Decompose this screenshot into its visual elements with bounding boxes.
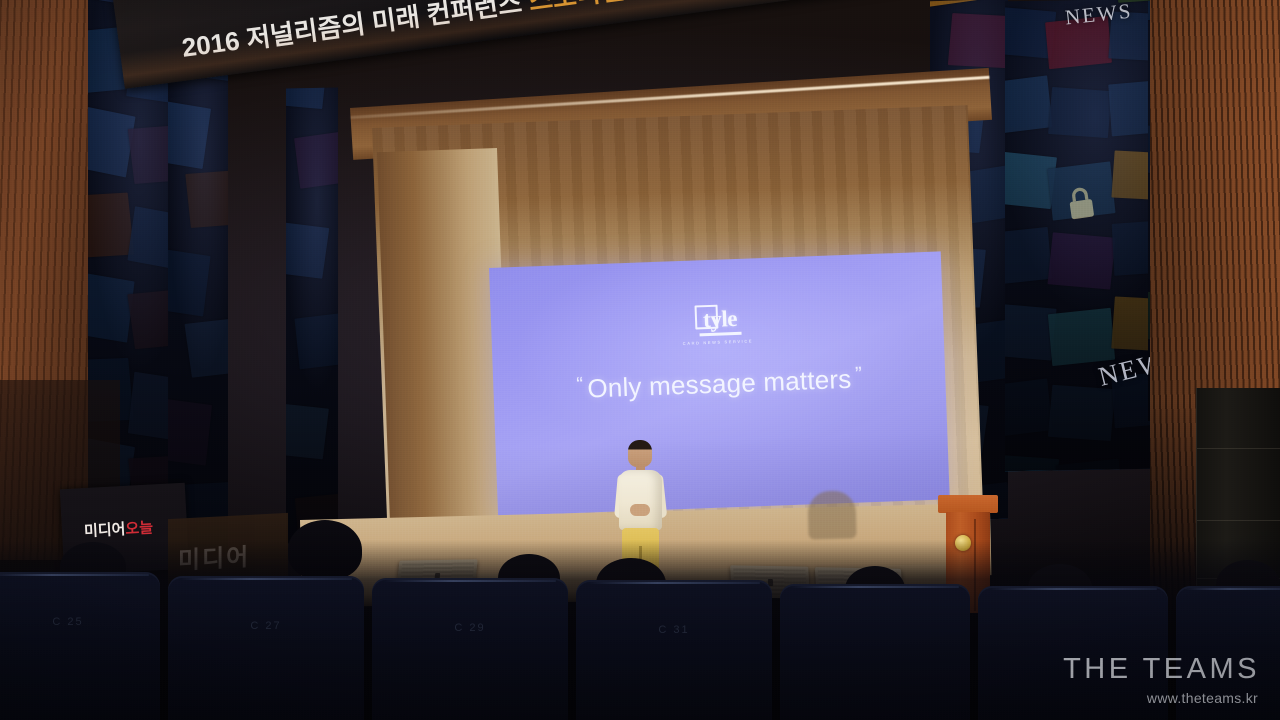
speaker-shadow-on-wall [807, 490, 856, 539]
seat-number: C 25 [0, 616, 160, 628]
auditorium-seat: C 25 [0, 572, 160, 720]
logo-underline [700, 332, 742, 336]
seat-rim-highlight [989, 588, 1156, 590]
curtain-left-fold [377, 148, 511, 552]
sponsor-logo-text: 미디어오늘 [84, 521, 154, 540]
seat-rim-highlight [588, 582, 761, 584]
podium-top [938, 495, 998, 513]
tyle-logo-word: tyle [703, 306, 738, 332]
presenter-hands [630, 504, 650, 516]
auditorium-seat: C 29 [372, 578, 568, 720]
right-photo-collage-panel-b [1005, 0, 1155, 471]
quote-mark-close: ” [851, 363, 867, 386]
sponsor-name-red: 오늘 [125, 520, 153, 538]
auditorium-seat [1176, 586, 1280, 720]
left-photo-collage-panel-c [286, 88, 338, 544]
auditorium-seat: C 27 [168, 576, 364, 720]
seat-rim-highlight [180, 578, 353, 580]
seat-number: C 27 [168, 620, 364, 632]
seat-number: C 31 [576, 624, 772, 636]
sponsor-name-white: 미디어 [84, 521, 126, 540]
slide-content: tyle CARD NEWS SERVICE “Only message mat… [491, 297, 946, 407]
lock-icon [1064, 184, 1098, 222]
left-photo-collage-panel-b [168, 7, 228, 554]
presenter-tshirt [619, 470, 662, 530]
seat-rim-highlight [0, 574, 149, 576]
auditorium-seat [780, 584, 970, 720]
conference-stage-photo: NEWS NEWS 2016 저널리즘의 미래 컨퍼런스 스토리텔링의 ㄴ [0, 0, 1280, 720]
seat-number: C 29 [372, 622, 568, 634]
auditorium-seat: C 31 [576, 580, 772, 720]
collage-veil [1005, 0, 1155, 471]
tyle-logo: tyle [691, 305, 744, 334]
seat-rim-highlight [384, 580, 557, 582]
seat-rim-highlight [791, 586, 958, 588]
projection-screen: tyle CARD NEWS SERVICE “Only message mat… [489, 251, 950, 515]
quote-mark-open: “ [572, 373, 588, 396]
collage-veil [168, 7, 228, 554]
collage-veil [286, 88, 338, 544]
presenter-head [628, 440, 652, 467]
auditorium-seat [978, 586, 1168, 720]
audience-head [288, 520, 362, 580]
seat-rim-highlight [1184, 588, 1280, 590]
